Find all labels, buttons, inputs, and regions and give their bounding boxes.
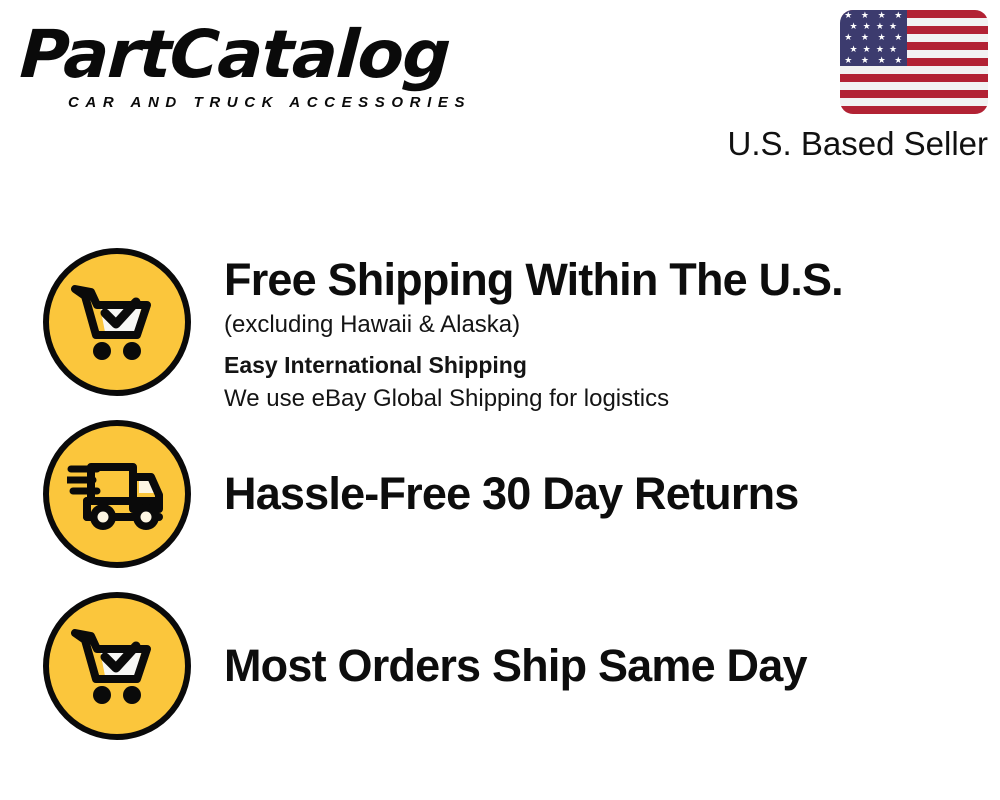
delivery-truck-icon [43,420,191,568]
feature-row: Hassle-Free 30 Day Returns [0,412,1000,584]
feature-sub-bold: Easy International Shipping [224,349,980,382]
brand-wordmark: PartCatalog [18,22,501,88]
feature-text: Hassle-Free 30 Day Returns [224,468,980,520]
flag-canton: ★★★★ ★★★★ ★★★★ ★★★★ ★★★★ [840,10,907,66]
brand-logo: PartCatalog CAR AND TRUCK ACCESSORIES [22,22,492,117]
shopping-cart-check-icon [43,248,191,396]
us-based-seller-label: U.S. Based Seller [708,125,988,163]
us-based-seller-block: ★★★★ ★★★★ ★★★★ ★★★★ ★★★★ U.S. Based Sell… [708,10,988,163]
feature-sub-detail: We use eBay Global Shipping for logistic… [224,382,980,415]
feature-heading: Hassle-Free 30 Day Returns [224,468,980,520]
brand-tagline: CAR AND TRUCK ACCESSORIES [68,94,471,111]
page-header: PartCatalog CAR AND TRUCK ACCESSORIES [0,0,1000,175]
feature-row: Most Orders Ship Same Day [0,584,1000,756]
us-flag-icon: ★★★★ ★★★★ ★★★★ ★★★★ ★★★★ [840,10,988,114]
feature-row: Free Shipping Within The U.S. (excluding… [0,240,1000,412]
feature-text: Free Shipping Within The U.S. (excluding… [224,254,980,415]
feature-heading: Most Orders Ship Same Day [224,640,980,692]
feature-text: Most Orders Ship Same Day [224,640,980,692]
feature-sub-note: (excluding Hawaii & Alaska) [224,308,980,341]
feature-heading: Free Shipping Within The U.S. [224,254,980,306]
shopping-cart-check-icon [43,592,191,740]
feature-list: Free Shipping Within The U.S. (excluding… [0,240,1000,756]
